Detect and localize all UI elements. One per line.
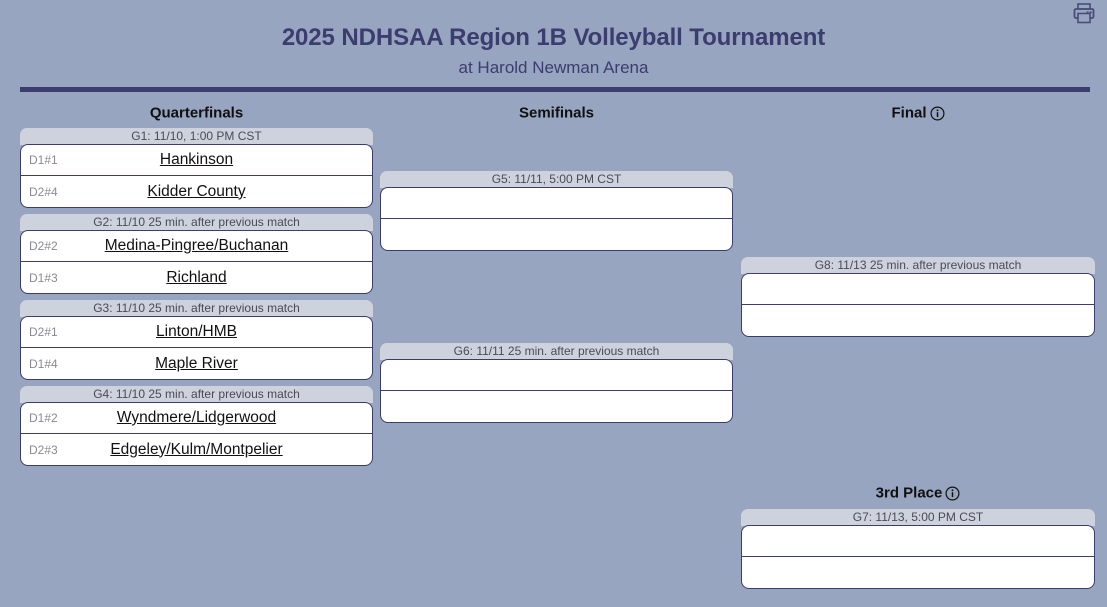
team-name-link[interactable]: Richland xyxy=(21,269,372,287)
match-box-g4: D1#2 Wyndmere/Lidgerwood D2#3 Edgeley/Ku… xyxy=(20,402,373,466)
team-seed: D1#4 xyxy=(29,357,58,371)
match-header-g6: G6: 11/11 25 min. after previous match xyxy=(380,343,733,360)
team-row[interactable]: D2#2 Medina-Pingree/Buchanan xyxy=(21,231,372,262)
team-row[interactable]: D2#3 Edgeley/Kulm/Montpelier xyxy=(21,434,372,465)
team-seed: D1#1 xyxy=(29,153,58,167)
match-box-g2: D2#2 Medina-Pingree/Buchanan D1#3 Richla… xyxy=(20,230,373,294)
page-title: 2025 NDHSAA Region 1B Volleyball Tournam… xyxy=(0,24,1107,52)
match-box-g7 xyxy=(741,525,1095,589)
match-g5: G5: 11/11, 5:00 PM CST xyxy=(380,171,733,251)
team-row[interactable] xyxy=(742,274,1094,305)
printer-icon xyxy=(1072,3,1096,25)
match-header-g3: G3: 11/10 25 min. after previous match xyxy=(20,300,373,317)
team-row[interactable]: D1#3 Richland xyxy=(21,262,372,293)
team-row[interactable] xyxy=(742,557,1094,588)
team-row[interactable] xyxy=(742,526,1094,557)
match-header-g5: G5: 11/11, 5:00 PM CST xyxy=(380,171,733,188)
match-g8: G8: 11/13 25 min. after previous match xyxy=(741,257,1095,337)
team-seed: D2#4 xyxy=(29,185,58,199)
team-row[interactable]: D2#4 Kidder County xyxy=(21,176,372,207)
team-row[interactable] xyxy=(381,188,732,219)
match-header-g2: G2: 11/10 25 min. after previous match xyxy=(20,214,373,231)
round-label-third-place: 3rd Place xyxy=(876,485,943,502)
team-name-link[interactable]: Medina-Pingree/Buchanan xyxy=(21,237,372,255)
team-seed: D2#2 xyxy=(29,239,58,253)
team-row[interactable]: D1#1 Hankinson xyxy=(21,145,372,176)
team-seed: D2#1 xyxy=(29,325,58,339)
team-row[interactable]: D2#1 Linton/HMB xyxy=(21,317,372,348)
match-g7: G7: 11/13, 5:00 PM CST xyxy=(741,509,1095,589)
team-name-link[interactable]: Linton/HMB xyxy=(21,323,372,341)
page-subtitle: at Harold Newman Arena xyxy=(0,58,1107,78)
match-box-g1: D1#1 Hankinson D2#4 Kidder County xyxy=(20,144,373,208)
match-box-g8 xyxy=(741,273,1095,337)
team-name-link[interactable]: Maple River xyxy=(21,355,372,373)
team-name-link[interactable]: Kidder County xyxy=(21,183,372,201)
team-row[interactable] xyxy=(381,360,732,391)
match-g2: G2: 11/10 25 min. after previous match D… xyxy=(20,214,373,294)
match-g6: G6: 11/11 25 min. after previous match xyxy=(380,343,733,423)
match-header-g1: G1: 11/10, 1:00 PM CST xyxy=(20,128,373,145)
team-name-link[interactable]: Wyndmere/Lidgerwood xyxy=(21,409,372,427)
round-header-semifinals: Semifinals xyxy=(380,104,733,122)
round-header-quarterfinals: Quarterfinals xyxy=(20,104,373,122)
match-box-g6 xyxy=(380,359,733,423)
team-row[interactable] xyxy=(742,305,1094,336)
info-icon-third-place[interactable] xyxy=(945,486,960,501)
match-header-g4: G4: 11/10 25 min. after previous match xyxy=(20,386,373,403)
match-g3: G3: 11/10 25 min. after previous match D… xyxy=(20,300,373,380)
team-row[interactable]: D1#4 Maple River xyxy=(21,348,372,379)
print-button[interactable] xyxy=(1072,3,1096,25)
team-row[interactable] xyxy=(381,391,732,422)
team-seed: D1#3 xyxy=(29,271,58,285)
match-g1: G1: 11/10, 1:00 PM CST D1#1 Hankinson D2… xyxy=(20,128,373,208)
round-label-semifinals: Semifinals xyxy=(519,105,594,122)
team-row[interactable]: D1#2 Wyndmere/Lidgerwood xyxy=(21,403,372,434)
info-icon-final[interactable] xyxy=(930,106,945,121)
match-header-g8: G8: 11/13 25 min. after previous match xyxy=(741,257,1095,274)
team-seed: D1#2 xyxy=(29,411,58,425)
team-name-link[interactable]: Hankinson xyxy=(21,151,372,169)
round-label-final: Final xyxy=(891,105,926,122)
header-divider xyxy=(20,87,1090,92)
round-label-quarterfinals: Quarterfinals xyxy=(150,105,243,122)
team-row[interactable] xyxy=(381,219,732,250)
team-seed: D2#3 xyxy=(29,443,58,457)
match-g4: G4: 11/10 25 min. after previous match D… xyxy=(20,386,373,466)
round-header-final: Final xyxy=(741,104,1095,122)
match-box-g5 xyxy=(380,187,733,251)
match-box-g3: D2#1 Linton/HMB D1#4 Maple River xyxy=(20,316,373,380)
round-header-third-place: 3rd Place xyxy=(741,484,1095,502)
match-header-g7: G7: 11/13, 5:00 PM CST xyxy=(741,509,1095,526)
team-name-link[interactable]: Edgeley/Kulm/Montpelier xyxy=(21,441,372,459)
